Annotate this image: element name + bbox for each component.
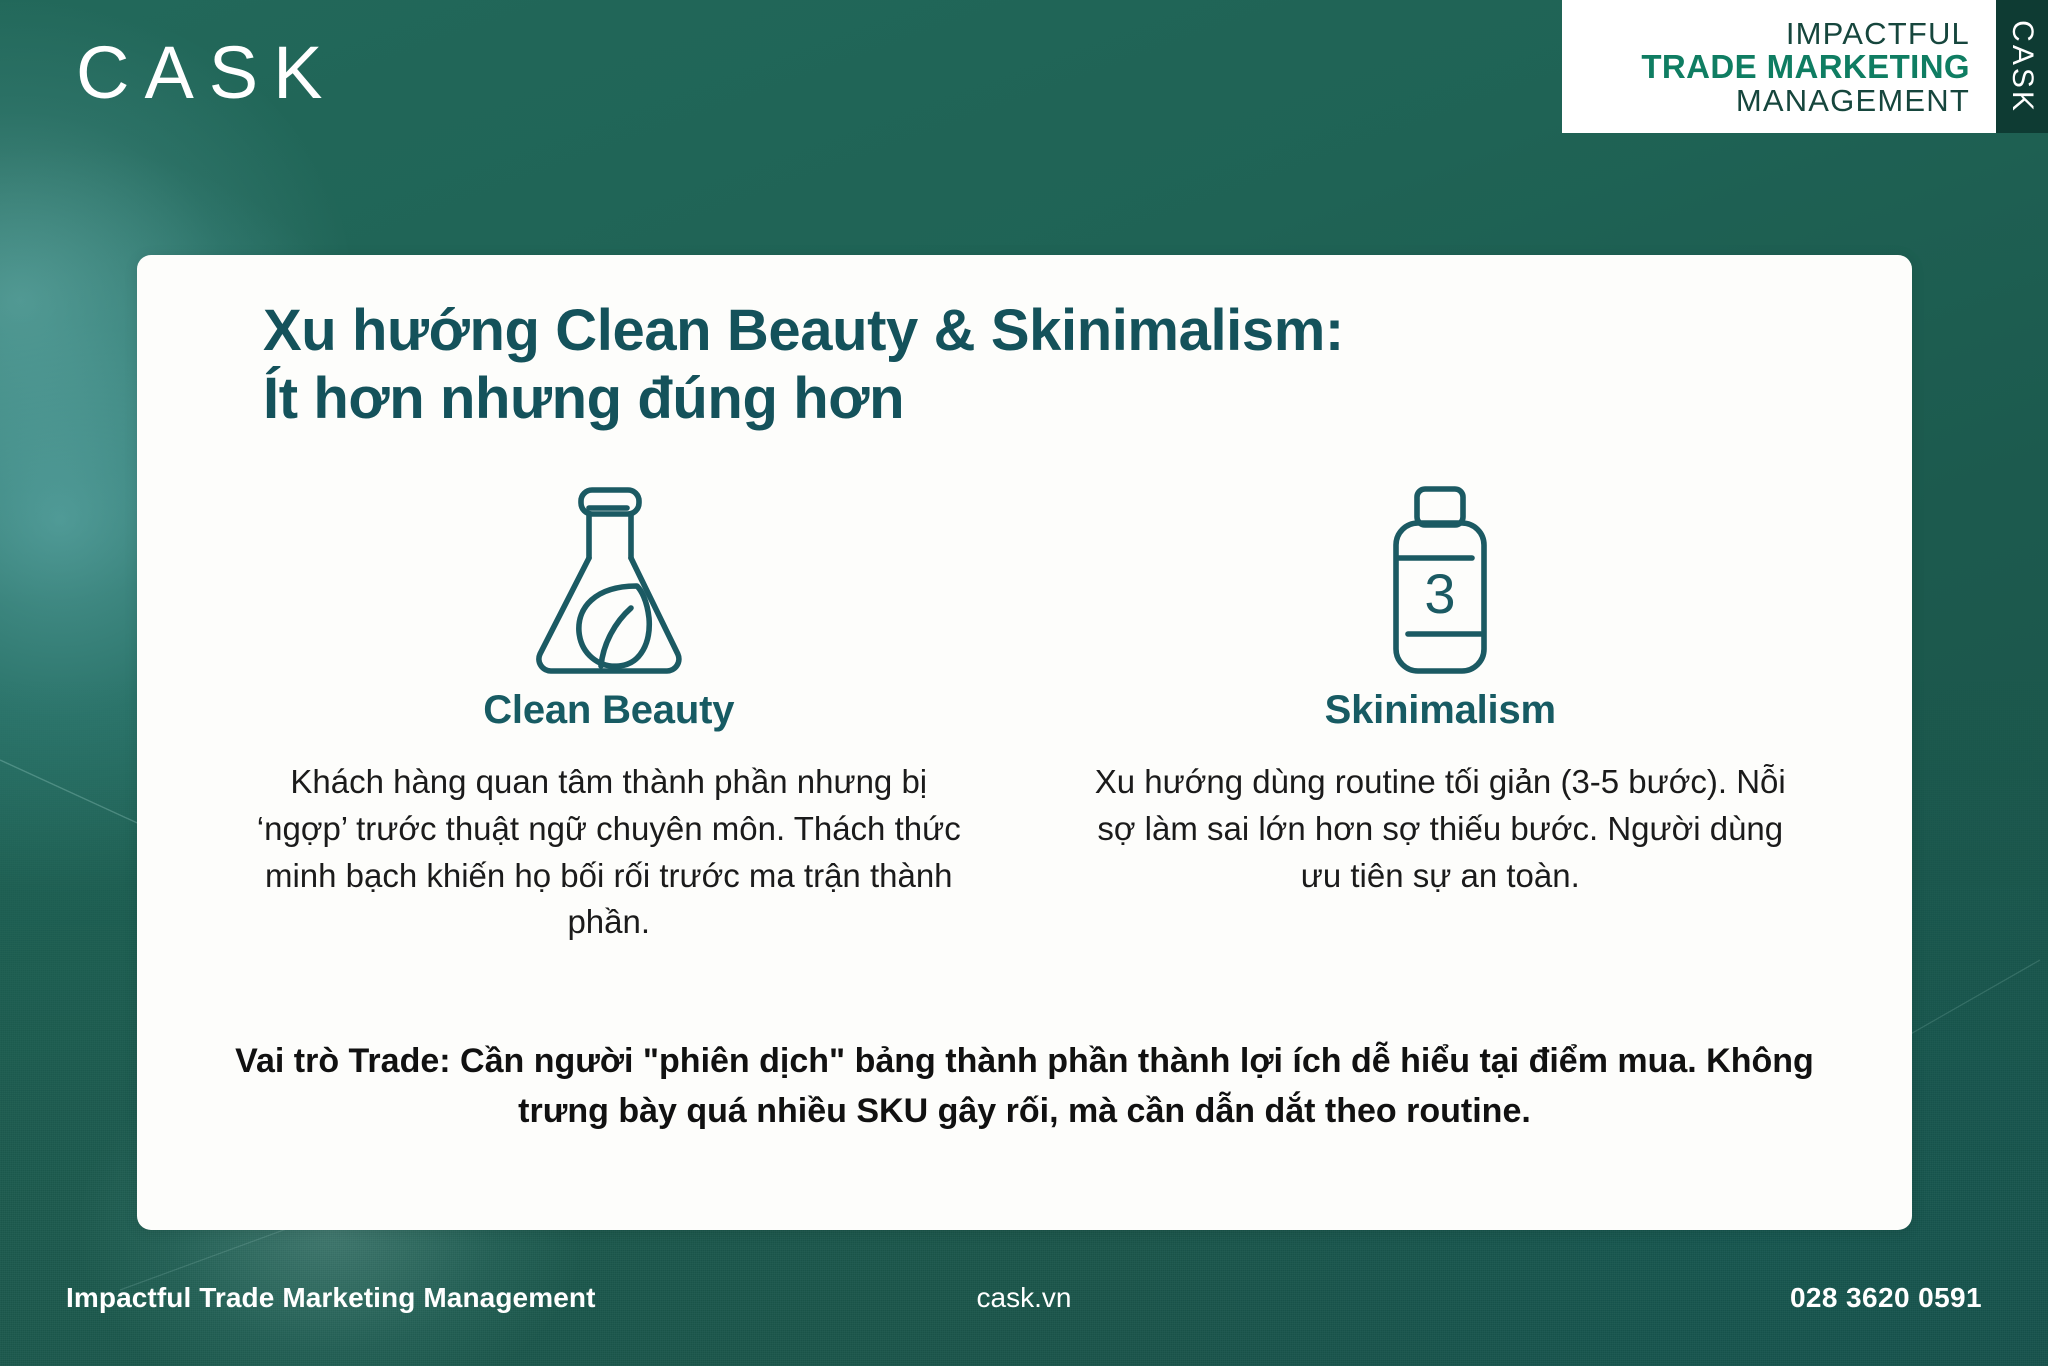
content-card: Xu hướng Clean Beauty & Skinimalism: Ít … — [137, 255, 1912, 1230]
column-body-clean-beauty: Khách hàng quan tâm thành phần nhưng bị … — [254, 759, 964, 946]
column-body-skinimalism: Xu hướng dùng routine tối giản (3-5 bước… — [1090, 759, 1790, 900]
badge-vertical-strip: CASK — [1996, 0, 2048, 133]
badge-line-trade-marketing: TRADE MARKETING — [1641, 50, 1970, 84]
program-badge-box: IMPACTFUL TRADE MARKETING MANAGEMENT — [1562, 0, 1996, 133]
badge-line-management: MANAGEMENT — [1736, 85, 1970, 117]
bottle-icon-number: 3 — [1425, 562, 1456, 625]
flask-leaf-icon — [523, 480, 695, 680]
footer-bar: Impactful Trade Marketing Management cas… — [0, 1230, 2048, 1366]
page-title: Xu hướng Clean Beauty & Skinimalism: Ít … — [263, 297, 1856, 434]
slide-canvas: CASK IMPACTFUL TRADE MARKETING MANAGEMEN… — [0, 0, 2048, 1366]
footer-website[interactable]: cask.vn — [0, 1282, 2048, 1314]
column-clean-beauty: Clean Beauty Khách hàng quan tâm thành p… — [193, 480, 1025, 979]
badge-strip-label: CASK — [2005, 20, 2039, 114]
column-heading-skinimalism: Skinimalism — [1325, 688, 1556, 733]
trend-columns: Clean Beauty Khách hàng quan tâm thành p… — [193, 480, 1856, 979]
trade-role-callout: Vai trò Trade: Cần người "phiên dịch" bả… — [205, 1037, 1845, 1136]
bottle-three-steps-icon: 3 — [1375, 480, 1505, 680]
page-title-line-2: Ít hơn nhưng đúng hơn — [263, 365, 1856, 433]
badge-line-impactful: IMPACTFUL — [1786, 18, 1970, 50]
column-skinimalism: 3 Skinimalism Xu hướng dùng routine tối … — [1025, 480, 1857, 979]
cask-logo: CASK — [76, 36, 338, 110]
program-badge: IMPACTFUL TRADE MARKETING MANAGEMENT CAS… — [1562, 0, 2048, 133]
footer-phone[interactable]: 028 3620 0591 — [1790, 1282, 1982, 1314]
page-title-line-1: Xu hướng Clean Beauty & Skinimalism: — [263, 297, 1856, 365]
column-heading-clean-beauty: Clean Beauty — [483, 688, 734, 733]
